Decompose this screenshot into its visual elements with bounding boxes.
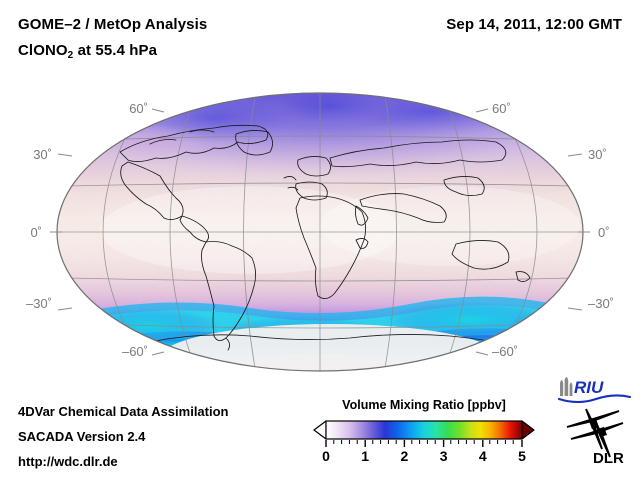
colorbar-tick-2: 2 bbox=[400, 448, 408, 464]
colorbar-major-ticks bbox=[326, 440, 522, 447]
label-30s-left: –30˚ bbox=[26, 296, 52, 311]
colorbar-gradient bbox=[326, 421, 522, 439]
species-name: ClONO bbox=[18, 42, 68, 59]
riu-skyline-icon bbox=[560, 377, 572, 396]
visualization-page: GOME–2 / MetOp Analysis ClONO2 at 55.4 h… bbox=[0, 0, 640, 480]
label-60n-right: 60˚ bbox=[492, 101, 511, 116]
label-60n-left: 60˚ bbox=[129, 101, 148, 116]
label-30s-right: –30˚ bbox=[588, 296, 614, 311]
colorbar-tick-5: 5 bbox=[518, 448, 526, 464]
label-30n-left: 30˚ bbox=[33, 147, 52, 162]
colorbar-cap-low bbox=[314, 421, 326, 439]
colorbar-tick-3: 3 bbox=[440, 448, 448, 464]
label-0-left: 0˚ bbox=[30, 225, 42, 240]
colorbar-minor-ticks bbox=[334, 440, 513, 444]
species-subscript: 2 bbox=[68, 50, 74, 61]
mollweide-map: 60˚ 60˚ 30˚ 30˚ 0˚ 0˚ –30˚ –30˚ –60˚ –60… bbox=[0, 80, 640, 380]
timestamp-label: Sep 14, 2011, 12:00 GMT bbox=[446, 16, 622, 33]
riu-wordmark: RIU bbox=[574, 378, 604, 397]
label-60s-right: –60˚ bbox=[492, 344, 518, 359]
colorbar-tick-1: 1 bbox=[361, 448, 369, 464]
label-60s-left: –60˚ bbox=[122, 344, 148, 359]
data-field bbox=[57, 86, 605, 380]
label-0-right: 0˚ bbox=[598, 225, 610, 240]
map-container: 60˚ 60˚ 30˚ 30˚ 0˚ 0˚ –30˚ –30˚ –60˚ –60… bbox=[0, 80, 640, 380]
page-title: GOME–2 / MetOp Analysis bbox=[18, 16, 207, 33]
footer-line-version: SACADA Version 2.4 bbox=[18, 429, 145, 444]
footer-line-method: 4DVar Chemical Data Assimilation bbox=[18, 404, 229, 419]
dlr-logo: DLR bbox=[563, 405, 633, 467]
colorbar bbox=[312, 417, 536, 463]
colorbar-tick-4: 4 bbox=[479, 448, 487, 464]
colorbar-block: Volume Mixing Ratio [ppbv] bbox=[312, 398, 536, 472]
footer-line-url[interactable]: http://wdc.dlr.de bbox=[18, 454, 118, 469]
species-level: at 55.4 hPa bbox=[73, 42, 157, 59]
riu-logo: RIU bbox=[556, 374, 632, 404]
colorbar-title: Volume Mixing Ratio [ppbv] bbox=[312, 398, 536, 412]
dlr-wordmark: DLR bbox=[593, 450, 624, 467]
species-subtitle: ClONO2 at 55.4 hPa bbox=[18, 42, 157, 59]
colorbar-tick-0: 0 bbox=[322, 448, 330, 464]
label-30n-right: 30˚ bbox=[588, 147, 607, 162]
colorbar-cap-high bbox=[522, 421, 534, 439]
